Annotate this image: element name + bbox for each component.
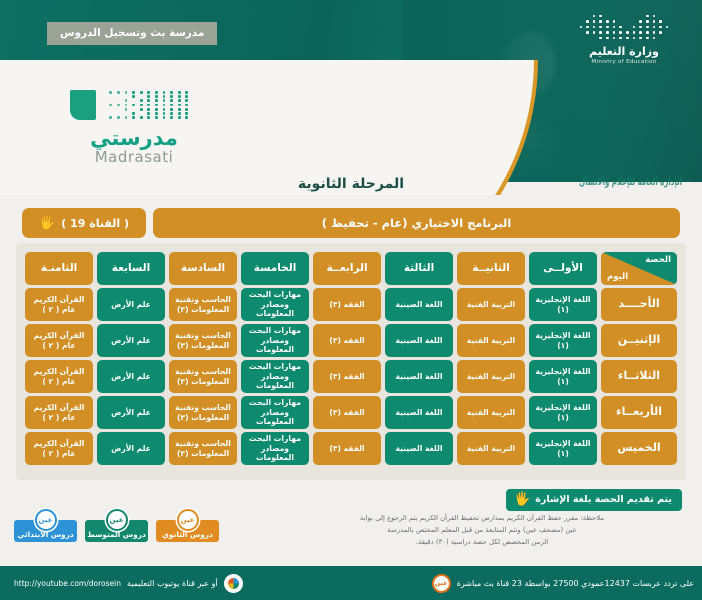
subject-cell: مهارات البحث ومصادر المعلومات: [241, 288, 309, 321]
subject-label: الحاسب وتقنية المعلومات (٣): [169, 288, 237, 321]
subject-label: مهارات البحث ومصادر المعلومات: [241, 288, 309, 321]
subject-label: اللغة الصينية: [385, 396, 453, 429]
subject-cell: التربية الفنية: [457, 360, 525, 393]
subject-label: مهارات البحث ومصادر المعلومات: [241, 396, 309, 429]
period-header-7: السابعة: [97, 252, 165, 285]
channel-badge: ( القناة 19 ) 🖐: [22, 208, 146, 238]
subject-label: الحاسب وتقنية المعلومات (٣): [169, 360, 237, 393]
pixel-grid-icon: [100, 91, 190, 119]
subject-cell: اللغة الصينية: [385, 432, 453, 465]
subject-label: اللغة الإنجليزية (١): [529, 360, 597, 393]
period-header-label: الخامسة: [241, 252, 309, 285]
day-cell: الإثنيــن: [601, 324, 677, 357]
subject-label: التربية الفنية: [457, 396, 525, 429]
period-header-label: السادسة: [169, 252, 237, 285]
ein-lesson-buttons: عين دروس الثانوي عين دروس المتوسط عين در…: [14, 520, 219, 542]
subject-label: علم الأرض: [97, 288, 165, 321]
day-label: الثلاثــاء: [601, 360, 677, 393]
subject-label: الحاسب وتقنية المعلومات (٣): [169, 396, 237, 429]
subject-cell: القرآن الكريم عام ( ٢ ): [25, 288, 93, 321]
subject-cell: اللغة الإنجليزية (١): [529, 324, 597, 357]
table-row: الإثنيــن اللغة الإنجليزية (١) التربية ا…: [25, 324, 677, 357]
table-row: الأحــــد اللغة الإنجليزية (١) التربية ا…: [25, 288, 677, 321]
subject-cell: الفقه (٣): [313, 288, 381, 321]
day-label: الأحــــد: [601, 288, 677, 321]
program-bar: البرنامج الاختياري (عام - تحفيظ ) ( القن…: [22, 208, 680, 238]
stage-row: المرحلة الثانوية الإدارة العامة للإعلام …: [0, 172, 702, 206]
period-header-label: السابعة: [97, 252, 165, 285]
subject-cell: اللغة الصينية: [385, 324, 453, 357]
frequency-text: على تردد عربسات 12437عمودي 27500 بواسطة …: [457, 579, 694, 588]
subject-label: التربية الفنية: [457, 324, 525, 357]
subject-label: مهارات البحث ومصادر المعلومات: [241, 324, 309, 357]
ministry-logo: وزارة التعليم Ministry of Education: [564, 14, 684, 65]
youtube-url[interactable]: http://youtube.com/dorosein: [14, 579, 121, 588]
subject-cell: التربية الفنية: [457, 324, 525, 357]
youtube-channel-icon: [224, 574, 243, 593]
subject-label: علم الأرض: [97, 432, 165, 465]
subject-label: القرآن الكريم عام ( ٢ ): [25, 288, 93, 321]
subject-label: التربية الفنية: [457, 360, 525, 393]
table-header-row: الحصة اليوم الأولــى الثانيــة الثالثة ا…: [25, 252, 677, 285]
ein-button-label: دروس الابتدائي: [17, 530, 73, 539]
subject-label: التربية الفنية: [457, 432, 525, 465]
subject-cell: مهارات البحث ومصادر المعلومات: [241, 396, 309, 429]
ministry-dots-icon: [578, 14, 670, 40]
day-cell: الأربعــاء: [601, 396, 677, 429]
day-cell: الخميس: [601, 432, 677, 465]
corner-header-cell: الحصة اليوم: [601, 252, 677, 285]
subject-label: الفقه (٣): [313, 288, 381, 321]
table-row: الخميس اللغة الإنجليزية (١) التربية الفن…: [25, 432, 677, 465]
note-line-2: عين (مصحف عين) وتتم المتابعة من قبل المع…: [282, 524, 682, 536]
subject-label: علم الأرض: [97, 396, 165, 429]
schedule-table: الحصة اليوم الأولــى الثانيــة الثالثة ا…: [21, 249, 681, 468]
subject-cell: اللغة الإنجليزية (١): [529, 432, 597, 465]
ein-badge-icon: عين: [177, 509, 199, 531]
period-header-label: الثانيــة: [457, 252, 525, 285]
program-label: البرنامج الاختياري (عام - تحفيظ ): [153, 208, 680, 238]
madrasati-name-ar: مدرستي: [44, 128, 224, 149]
period-header-label: الثامنـة: [25, 252, 93, 285]
subject-label: اللغة الصينية: [385, 432, 453, 465]
table-row: الأربعــاء اللغة الإنجليزية (١) التربية …: [25, 396, 677, 429]
day-label: الإثنيــن: [601, 324, 677, 357]
period-header-label: الرابعــة: [313, 252, 381, 285]
subject-cell: الحاسب وتقنية المعلومات (٣): [169, 288, 237, 321]
period-header-2: الثانيــة: [457, 252, 525, 285]
subject-label: التربية الفنية: [457, 288, 525, 321]
ein-button-primary[interactable]: عين دروس الابتدائي: [14, 520, 77, 542]
period-header-5: الخامسة: [241, 252, 309, 285]
subject-label: مهارات البحث ومصادر المعلومات: [241, 432, 309, 465]
note-line-3: الزمن المخصص لكل حصة دراسية (٣٠) دقيقة.: [282, 536, 682, 548]
subject-label: الفقه (٣): [313, 396, 381, 429]
subject-cell: علم الأرض: [97, 288, 165, 321]
subject-label: اللغة الإنجليزية (١): [529, 324, 597, 357]
subject-cell: القرآن الكريم عام ( ٢ ): [25, 396, 93, 429]
day-label: الأربعــاء: [601, 396, 677, 429]
frequency-info: على تردد عربسات 12437عمودي 27500 بواسطة …: [432, 574, 694, 593]
department-watermark: الإدارة العامة للإعلام والاتصال: [579, 176, 682, 189]
subject-label: اللغة الصينية: [385, 288, 453, 321]
subject-label: اللغة الصينية: [385, 324, 453, 357]
subject-label: علم الأرض: [97, 360, 165, 393]
ein-badge-icon: عين: [106, 509, 128, 531]
subject-label: اللغة الإنجليزية (١): [529, 288, 597, 321]
subject-cell: علم الأرض: [97, 324, 165, 357]
sign-language-badge: يتم تقديم الحصة بلغة الإشارة 🖐: [506, 489, 682, 511]
subject-label: اللغة الصينية: [385, 360, 453, 393]
madrasati-logo: مدرستي Madrasati: [44, 88, 224, 166]
madrasati-mark-icon: [44, 88, 224, 124]
ein-button-intermediate[interactable]: عين دروس المتوسط: [85, 520, 148, 542]
subject-cell: القرآن الكريم عام ( ٢ ): [25, 432, 93, 465]
period-header-1: الأولــى: [529, 252, 597, 285]
ministry-name-ar: وزارة التعليم: [564, 45, 684, 58]
subject-cell: اللغة الصينية: [385, 360, 453, 393]
ein-badge-icon: عين: [35, 509, 57, 531]
book-icon: [70, 90, 96, 120]
bottom-bar: على تردد عربسات 12437عمودي 27500 بواسطة …: [0, 566, 702, 600]
subject-cell: التربية الفنية: [457, 396, 525, 429]
subject-cell: الفقه (٣): [313, 432, 381, 465]
subject-cell: مهارات البحث ومصادر المعلومات: [241, 324, 309, 357]
period-header-label: الثالثة: [385, 252, 453, 285]
period-header-4: الرابعــة: [313, 252, 381, 285]
subject-cell: الفقه (٣): [313, 324, 381, 357]
subject-cell: الحاسب وتقنية المعلومات (٣): [169, 360, 237, 393]
day-label: الخميس: [601, 432, 677, 465]
subject-cell: اللغة الصينية: [385, 396, 453, 429]
subject-cell: القرآن الكريم عام ( ٢ ): [25, 360, 93, 393]
period-header-3: الثالثة: [385, 252, 453, 285]
subject-cell: اللغة الإنجليزية (١): [529, 288, 597, 321]
subject-cell: علم الأرض: [97, 360, 165, 393]
footer-note: ملاحظة: مقرر حفظ القرآن الكريم بمدارس تح…: [282, 512, 682, 548]
subject-cell: الحاسب وتقنية المعلومات (٣): [169, 324, 237, 357]
station-badge: مدرسة بث وتسجيل الدروس: [47, 22, 217, 45]
subject-label: الفقه (٣): [313, 432, 381, 465]
subject-cell: الحاسب وتقنية المعلومات (٣): [169, 396, 237, 429]
subject-cell: مهارات البحث ومصادر المعلومات: [241, 432, 309, 465]
schedule-table-container: الحصة اليوم الأولــى الثانيــة الثالثة ا…: [16, 243, 686, 480]
subject-cell: علم الأرض: [97, 396, 165, 429]
period-header-8: الثامنـة: [25, 252, 93, 285]
subject-label: الحاسب وتقنية المعلومات (٣): [169, 432, 237, 465]
ein-button-label: دروس الثانوي: [162, 530, 213, 539]
subject-cell: اللغة الإنجليزية (١): [529, 396, 597, 429]
subject-cell: التربية الفنية: [457, 288, 525, 321]
subject-label: اللغة الإنجليزية (١): [529, 396, 597, 429]
subject-cell: الفقه (٣): [313, 360, 381, 393]
subject-cell: اللغة الصينية: [385, 288, 453, 321]
hand-icon: 🖐: [514, 493, 530, 506]
subject-label: القرآن الكريم عام ( ٢ ): [25, 360, 93, 393]
sign-language-label: يتم تقديم الحصة بلغة الإشارة: [535, 494, 672, 505]
note-line-1: ملاحظة: مقرر حفظ القرآن الكريم بمدارس تح…: [282, 512, 682, 524]
subject-cell: علم الأرض: [97, 432, 165, 465]
corner-period-label: الحصة: [645, 255, 671, 265]
table-row: الثلاثــاء اللغة الإنجليزية (١) التربية …: [25, 360, 677, 393]
subject-label: اللغة الإنجليزية (١): [529, 432, 597, 465]
madrasati-name-en: Madrasati: [44, 149, 224, 166]
subject-label: القرآن الكريم عام ( ٢ ): [25, 432, 93, 465]
subject-cell: الحاسب وتقنية المعلومات (٣): [169, 432, 237, 465]
period-header-6: السادسة: [169, 252, 237, 285]
channel-label: ( القناة 19 ): [61, 217, 129, 230]
subject-label: الفقه (٣): [313, 360, 381, 393]
youtube-text: أو عبر قناة يوتيوب التعليمية: [127, 579, 218, 588]
corner-day-label: اليوم: [607, 272, 628, 282]
subject-label: علم الأرض: [97, 324, 165, 357]
ein-button-label: دروس المتوسط: [87, 530, 146, 539]
ein-badge-icon: عين: [432, 574, 451, 593]
period-header-label: الأولــى: [529, 252, 597, 285]
subject-label: الفقه (٣): [313, 324, 381, 357]
subject-label: القرآن الكريم عام ( ٢ ): [25, 324, 93, 357]
subject-cell: الفقه (٣): [313, 396, 381, 429]
subject-cell: التربية الفنية: [457, 432, 525, 465]
subject-label: مهارات البحث ومصادر المعلومات: [241, 360, 309, 393]
subject-label: القرآن الكريم عام ( ٢ ): [25, 396, 93, 429]
day-cell: الثلاثــاء: [601, 360, 677, 393]
subject-cell: مهارات البحث ومصادر المعلومات: [241, 360, 309, 393]
hand-icon: 🖐: [39, 217, 55, 230]
subject-cell: القرآن الكريم عام ( ٢ ): [25, 324, 93, 357]
day-cell: الأحــــد: [601, 288, 677, 321]
subject-label: الحاسب وتقنية المعلومات (٣): [169, 324, 237, 357]
youtube-info[interactable]: أو عبر قناة يوتيوب التعليمية http://yout…: [14, 574, 243, 593]
subject-cell: اللغة الإنجليزية (١): [529, 360, 597, 393]
ein-button-secondary[interactable]: عين دروس الثانوي: [156, 520, 219, 542]
